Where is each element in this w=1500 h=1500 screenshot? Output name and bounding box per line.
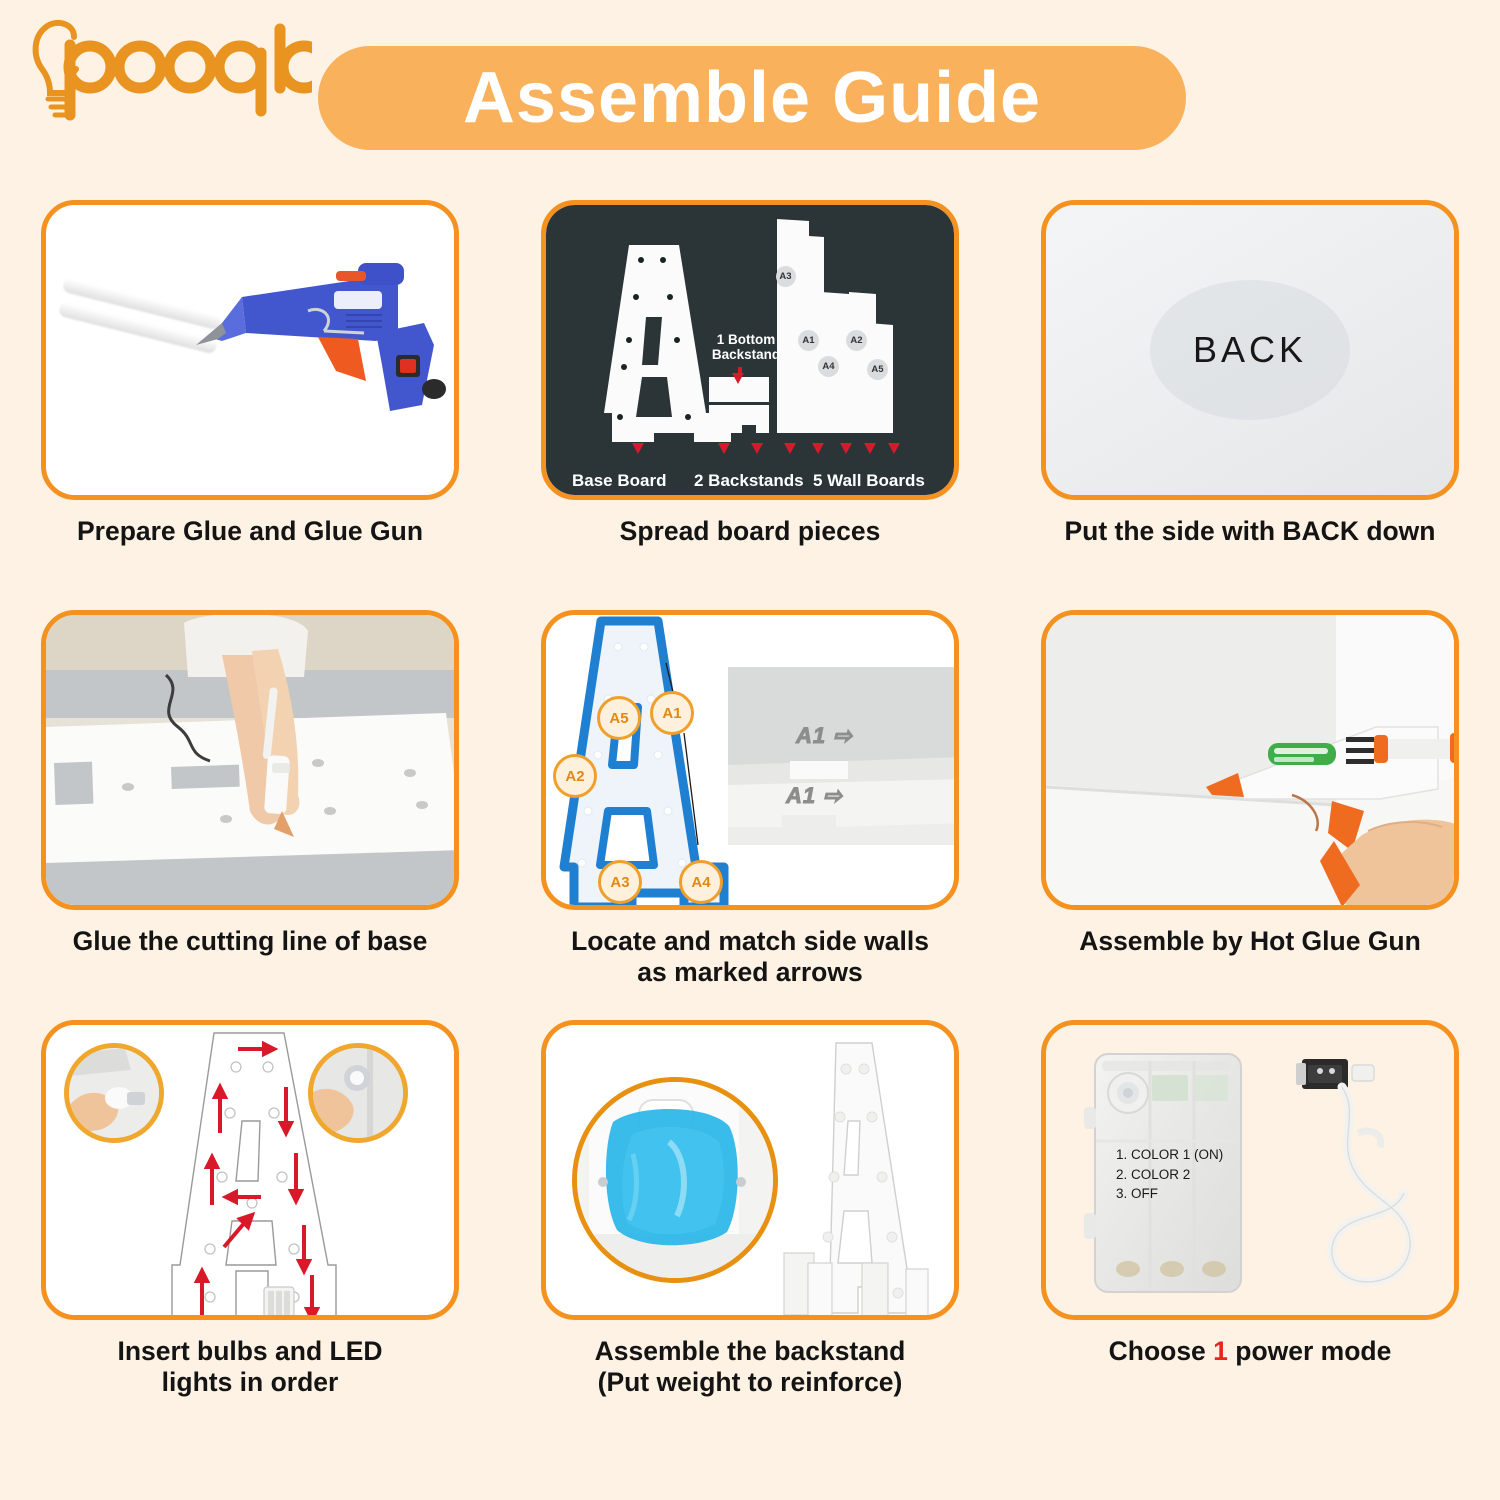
step-card-4: Glue the cutting line of base xyxy=(0,610,500,1020)
step-1-caption: Prepare Glue and Glue Gun xyxy=(15,516,485,547)
step-9-panel: 1. COLOR 1 (ON) 2. COLOR 2 3. OFF xyxy=(1041,1020,1459,1320)
red-arrow-down xyxy=(864,443,876,454)
red-arrow-down xyxy=(732,373,744,384)
power-mode-list: 1. COLOR 1 (ON) 2. COLOR 2 3. OFF xyxy=(1116,1145,1223,1204)
step-card-2: A3 A1 A4 A2 A5 1 Bottom Backstand xyxy=(500,200,1000,610)
bulb-insert-photo-left xyxy=(64,1043,164,1143)
step-card-5: A5 A1 A2 A3 A4 A1 ⇨ A1 ⇨ Locate and matc… xyxy=(500,610,1000,1020)
step-8-caption: Assemble the backstand (Put weight to re… xyxy=(515,1336,985,1399)
back-board-photo: BACK xyxy=(1046,205,1454,495)
step-3-caption-line: Put the side with BACK down xyxy=(1065,516,1436,546)
step-5-caption-line-2: as marked arrows xyxy=(637,957,862,987)
photo-label-a1-bottom: A1 ⇨ xyxy=(786,783,843,809)
right-arrow-icon: ⇨ xyxy=(823,783,842,808)
step-4-caption: Glue the cutting line of base xyxy=(15,926,485,957)
backstand-photo xyxy=(546,1025,954,1315)
wall-board-badge-a1: A1 xyxy=(799,331,818,350)
step-4-caption-line: Glue the cutting line of base xyxy=(73,926,428,956)
red-arrow-down xyxy=(632,443,644,454)
step-4-panel xyxy=(41,610,459,910)
brand-logo xyxy=(22,14,312,134)
right-arrow-icon: ⇨ xyxy=(833,723,852,748)
bottom-backstand-label: 1 Bottom Backstand xyxy=(696,333,796,363)
step-card-8: Assemble the backstand (Put weight to re… xyxy=(500,1020,1000,1500)
step-5-caption-line-1: Locate and match side walls xyxy=(571,926,929,956)
step-7-caption-line-2: lights in order xyxy=(162,1367,339,1397)
wall-board-badge-a3: A3 xyxy=(776,267,795,286)
page-title: Assemble Guide xyxy=(463,62,1041,134)
step-3-caption: Put the side with BACK down xyxy=(1015,516,1485,547)
red-arrow-down xyxy=(812,443,824,454)
glue-cutline-photo xyxy=(46,615,454,905)
step-card-3: BACK Put the side with BACK down xyxy=(1000,200,1500,610)
step-2-panel: A3 A1 A4 A2 A5 1 Bottom Backstand xyxy=(541,200,959,500)
step-5-panel: A5 A1 A2 A3 A4 A1 ⇨ A1 ⇨ xyxy=(541,610,959,910)
base-board-label: Base Board xyxy=(572,471,666,491)
step-7-panel xyxy=(41,1020,459,1320)
badge-a3: A3 xyxy=(598,860,642,904)
step-9-caption-suffix: power mode xyxy=(1228,1336,1391,1366)
step-3-panel: BACK xyxy=(1041,200,1459,500)
red-arrow-down xyxy=(840,443,852,454)
back-text: BACK xyxy=(1193,329,1307,371)
power-mode-item-2: 2. COLOR 2 xyxy=(1116,1165,1223,1185)
badge-a2: A2 xyxy=(553,754,597,798)
hot-glue-photo xyxy=(1046,615,1454,905)
step-5-caption: Locate and match side walls as marked ar… xyxy=(515,926,985,989)
step-1-caption-line: Prepare Glue and Glue Gun xyxy=(77,516,423,546)
wall-board-badge-a5: A5 xyxy=(868,360,887,379)
step-9-caption-highlight: 1 xyxy=(1213,1336,1228,1366)
hot-glue-illustration xyxy=(1046,615,1454,905)
step-card-6: Assemble by Hot Glue Gun xyxy=(1000,610,1500,1020)
locate-walls-diagram: A5 A1 A2 A3 A4 A1 ⇨ A1 ⇨ xyxy=(546,615,954,905)
red-arrow-down xyxy=(751,443,763,454)
red-arrow-down xyxy=(784,443,796,454)
power-mode-photo: 1. COLOR 1 (ON) 2. COLOR 2 3. OFF xyxy=(1046,1025,1454,1315)
back-label-oval: BACK xyxy=(1150,280,1350,420)
step-6-panel xyxy=(1041,610,1459,910)
board-pieces-diagram: A3 A1 A4 A2 A5 1 Bottom Backstand xyxy=(546,205,954,495)
bulb-insert-photo-right xyxy=(308,1043,408,1143)
hand-led-illustration xyxy=(313,1048,403,1138)
battery-box-details xyxy=(1046,1025,1454,1315)
steps-grid: Prepare Glue and Glue Gun xyxy=(0,200,1500,1500)
step-9-caption: Choose 1 power mode xyxy=(1015,1336,1485,1367)
step-6-caption-line: Assemble by Hot Glue Gun xyxy=(1079,926,1421,956)
step-6-caption: Assemble by Hot Glue Gun xyxy=(1015,926,1485,957)
step-8-caption-line-1: Assemble the backstand xyxy=(595,1336,906,1366)
glue-gun-photo xyxy=(46,205,454,495)
wall-board-badge-a2: A2 xyxy=(847,331,866,350)
step-card-1: Prepare Glue and Glue Gun xyxy=(0,200,500,610)
badge-a4: A4 xyxy=(679,860,723,904)
step-9-caption-prefix: Choose xyxy=(1109,1336,1214,1366)
insert-bulbs-diagram xyxy=(46,1025,454,1315)
red-arrow-down xyxy=(888,443,900,454)
backstands-label: 2 Backstands xyxy=(694,471,804,491)
power-mode-item-3: 3. OFF xyxy=(1116,1184,1223,1204)
step-7-caption-line-1: Insert bulbs and LED xyxy=(117,1336,382,1366)
glue-gun-illustration xyxy=(46,205,454,495)
red-arrow-down xyxy=(718,443,730,454)
step-card-7: Insert bulbs and LED lights in order xyxy=(0,1020,500,1500)
hand-bulb-illustration xyxy=(69,1048,159,1138)
wall-boards-label: 5 Wall Boards xyxy=(813,471,925,491)
step-8-caption-line-2: (Put weight to reinforce) xyxy=(598,1367,903,1397)
step-2-caption-line: Spread board pieces xyxy=(620,516,881,546)
step-2-caption: Spread board pieces xyxy=(515,516,985,547)
wall-board-badge-a4: A4 xyxy=(819,357,838,376)
step-8-panel xyxy=(541,1020,959,1320)
step-card-9: 1. COLOR 1 (ON) 2. COLOR 2 3. OFF Choose… xyxy=(1000,1020,1500,1500)
photo-label-a1-top: A1 ⇨ xyxy=(796,723,853,749)
page-header: Assemble Guide xyxy=(0,0,1500,190)
water-weight-inset xyxy=(572,1077,778,1283)
cutline-illustration xyxy=(46,615,454,905)
water-bag-illustration xyxy=(577,1082,773,1278)
letter-a-outline-svg xyxy=(546,615,954,905)
power-mode-item-1: 1. COLOR 1 (ON) xyxy=(1116,1145,1223,1165)
badge-a1: A1 xyxy=(650,691,694,735)
title-banner: Assemble Guide xyxy=(318,46,1186,150)
lightbulb-icon xyxy=(22,15,312,133)
step-7-caption: Insert bulbs and LED lights in order xyxy=(15,1336,485,1399)
badge-a5: A5 xyxy=(597,696,641,740)
step-1-panel xyxy=(41,200,459,500)
